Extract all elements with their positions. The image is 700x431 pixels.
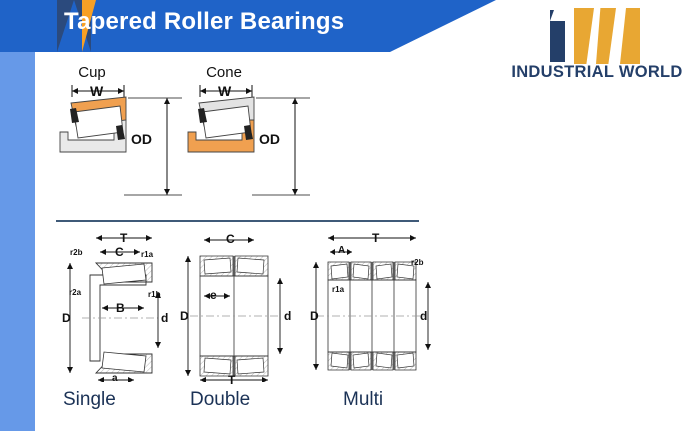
logo-letter-w-icon: [574, 8, 662, 64]
cone-width-label: W: [218, 83, 231, 99]
company-name: INDUSTRIAL WORLD: [498, 63, 696, 82]
logo-w-stroke-1-icon: [574, 8, 594, 64]
single-radius-r2a: r2a: [69, 288, 81, 297]
multi-dim-T: T: [372, 231, 379, 245]
double-dim-C: C: [226, 232, 235, 246]
single-caption: Single: [63, 389, 116, 411]
single-dim-a: a: [112, 373, 118, 384]
single-dim-D: D: [62, 311, 71, 325]
multi-dim-D: D: [310, 309, 319, 323]
double-caption: Double: [190, 389, 250, 411]
logo-w-stroke-3-icon: [620, 8, 640, 64]
slide-page: Tapered Roller Bearings INDUSTRIAL WORLD…: [0, 0, 700, 431]
single-dim-d: d: [161, 311, 168, 325]
cup-caption: Cup: [60, 64, 124, 81]
brand-logo: INDUSTRIAL WORLD: [498, 5, 696, 87]
cup-width-label: W: [90, 83, 103, 99]
multi-dim-d: d: [420, 309, 427, 323]
logo-mark-iw-icon: [498, 5, 696, 63]
left-accent-rail: [0, 52, 35, 431]
cone-caption: Cone: [190, 64, 258, 81]
section-divider: [56, 220, 419, 222]
multi-dim-A: A: [338, 245, 345, 256]
multi-bearing-diagram: [306, 230, 436, 382]
page-title: Tapered Roller Bearings: [64, 8, 344, 36]
single-radius-r1a: r1a: [141, 250, 153, 259]
single-radius-r1b: r1b: [148, 290, 160, 299]
multi-radius-r1a: r1a: [332, 285, 344, 294]
multi-radius-r2b: r2b: [411, 258, 423, 267]
single-dim-C: C: [115, 245, 124, 259]
single-radius-r2b: r2b: [70, 248, 82, 257]
double-dim-T: T: [228, 373, 235, 387]
cone-od-label: OD: [259, 131, 280, 147]
logo-letter-i-notch-icon: [550, 7, 575, 21]
double-dim-D: D: [180, 309, 189, 323]
single-dim-T: T: [120, 231, 127, 245]
cup-od-label: OD: [131, 131, 152, 147]
multi-caption: Multi: [343, 389, 383, 411]
double-dim-d: d: [284, 309, 291, 323]
logo-w-stroke-2-icon: [596, 8, 616, 64]
double-bearing-diagram: [176, 230, 294, 382]
double-dim-e: e: [210, 288, 217, 302]
single-dim-B: B: [116, 301, 125, 315]
